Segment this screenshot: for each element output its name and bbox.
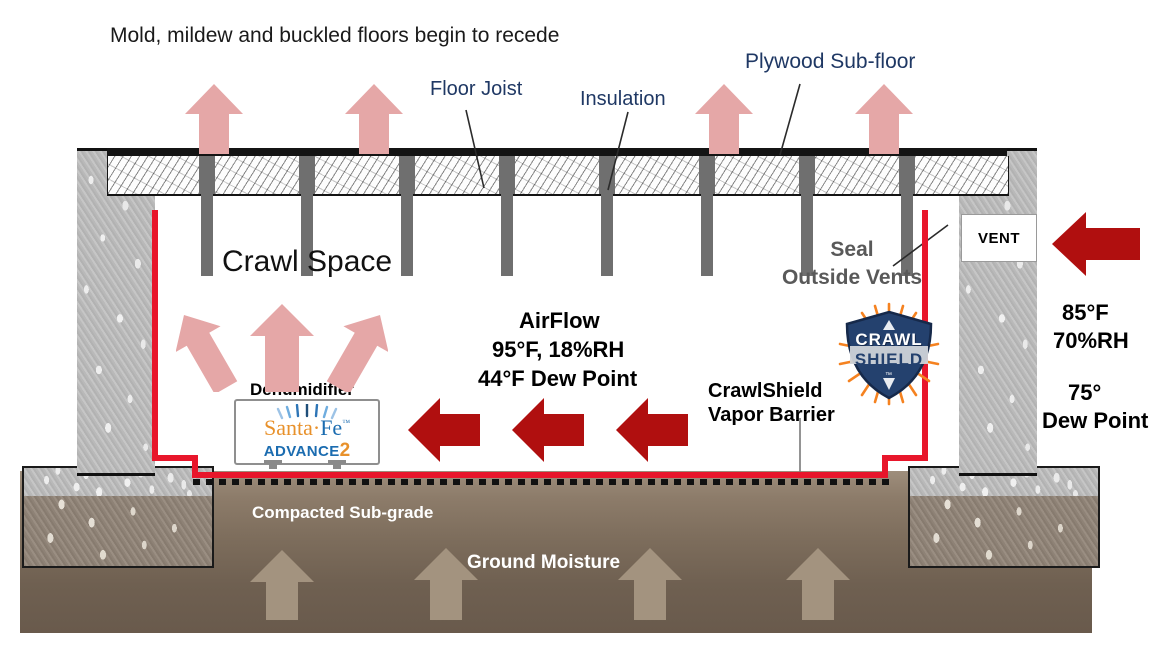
crawl-space-diagram: Mold, mildew and buckled floors begin to…: [0, 0, 1174, 653]
crawlshield-logo-line2: SHIELD: [855, 350, 923, 369]
crawlshield-logo: CRAWL SHIELD ™: [833, 302, 945, 406]
intake-airflow-arrows: [408, 398, 688, 462]
subgrade-dashed-line: [193, 477, 889, 487]
outside-air-arrow: [1052, 212, 1140, 276]
santafe-brand-part2: Fe: [320, 415, 342, 440]
santafe-brand-part1: Santa: [264, 415, 313, 440]
dehumidifier-output-arrows: [176, 300, 388, 392]
dehumidifier-feet: [234, 460, 376, 470]
plywood-subfloor-label: Plywood Sub-floor: [745, 50, 915, 74]
airflow-dew-point: 44°F Dew Point: [478, 366, 637, 392]
seal-vents-line1: Seal: [762, 238, 942, 262]
vapor-barrier-line2: Vapor Barrier: [708, 404, 835, 427]
crawlshield-logo-tm: ™: [885, 372, 892, 379]
outside-temp: 85°F: [1062, 300, 1109, 326]
floor-joist-label: Floor Joist: [430, 78, 522, 101]
crawlshield-logo-line1: CRAWL: [855, 330, 922, 349]
outside-dew-label: Dew Point: [1042, 408, 1148, 434]
outside-rh: 70%RH: [1053, 328, 1129, 354]
airflow-conditions: 95°F, 18%RH: [492, 337, 624, 363]
dehumidifier-unit[interactable]: Santa·Fe™ ADVANCE2: [234, 399, 380, 465]
outside-dew-value: 75°: [1068, 380, 1101, 406]
santafe-model: ADVANCE: [264, 443, 340, 460]
santafe-brand-tm: ™: [342, 418, 350, 427]
vapor-barrier-line1: CrawlShield: [708, 380, 822, 403]
airflow-heading: AirFlow: [519, 308, 600, 334]
santafe-model-number: 2: [340, 440, 351, 461]
insulation-label: Insulation: [580, 88, 666, 111]
seal-vents-line2: Outside Vents: [762, 266, 942, 290]
